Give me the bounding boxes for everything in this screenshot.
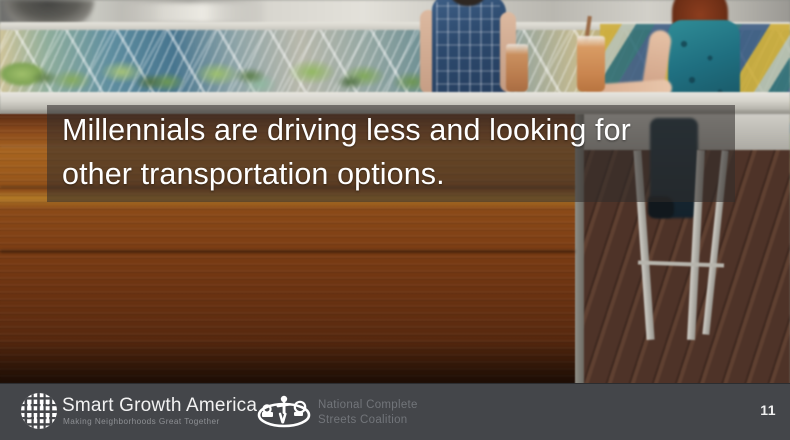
smart-growth-america-wordmark: Smart Growth America <box>62 395 257 417</box>
person-left-top-pattern <box>436 2 500 98</box>
coalition-line-1: National Complete <box>318 398 418 413</box>
page-number: 11 <box>760 402 776 418</box>
presentation-slide: Millennials are driving less and looking… <box>0 0 790 440</box>
pedestrian-bike-oval-icon <box>256 393 312 429</box>
coalition-line-2: Streets Coalition <box>318 413 418 428</box>
smart-growth-america-tagline: Making Neighborhoods Great Together <box>63 417 220 427</box>
blurred-vehicle-body <box>120 2 260 24</box>
wood-panel-shadow <box>0 340 575 385</box>
wood-plank-seam-lower <box>0 250 575 253</box>
footer-top-rule <box>0 383 790 384</box>
slide-title-line-2: other transportation options. <box>62 152 732 196</box>
iced-drink-cup-left <box>506 44 528 92</box>
coalition-wordmark: National Complete Streets Coalition <box>318 398 418 427</box>
iced-drink-cup-right <box>577 36 605 92</box>
woven-circle-logo-icon <box>20 392 58 430</box>
slide-title: Millennials are driving less and looking… <box>62 108 732 196</box>
slide-title-line-1: Millennials are driving less and looking… <box>62 108 732 152</box>
